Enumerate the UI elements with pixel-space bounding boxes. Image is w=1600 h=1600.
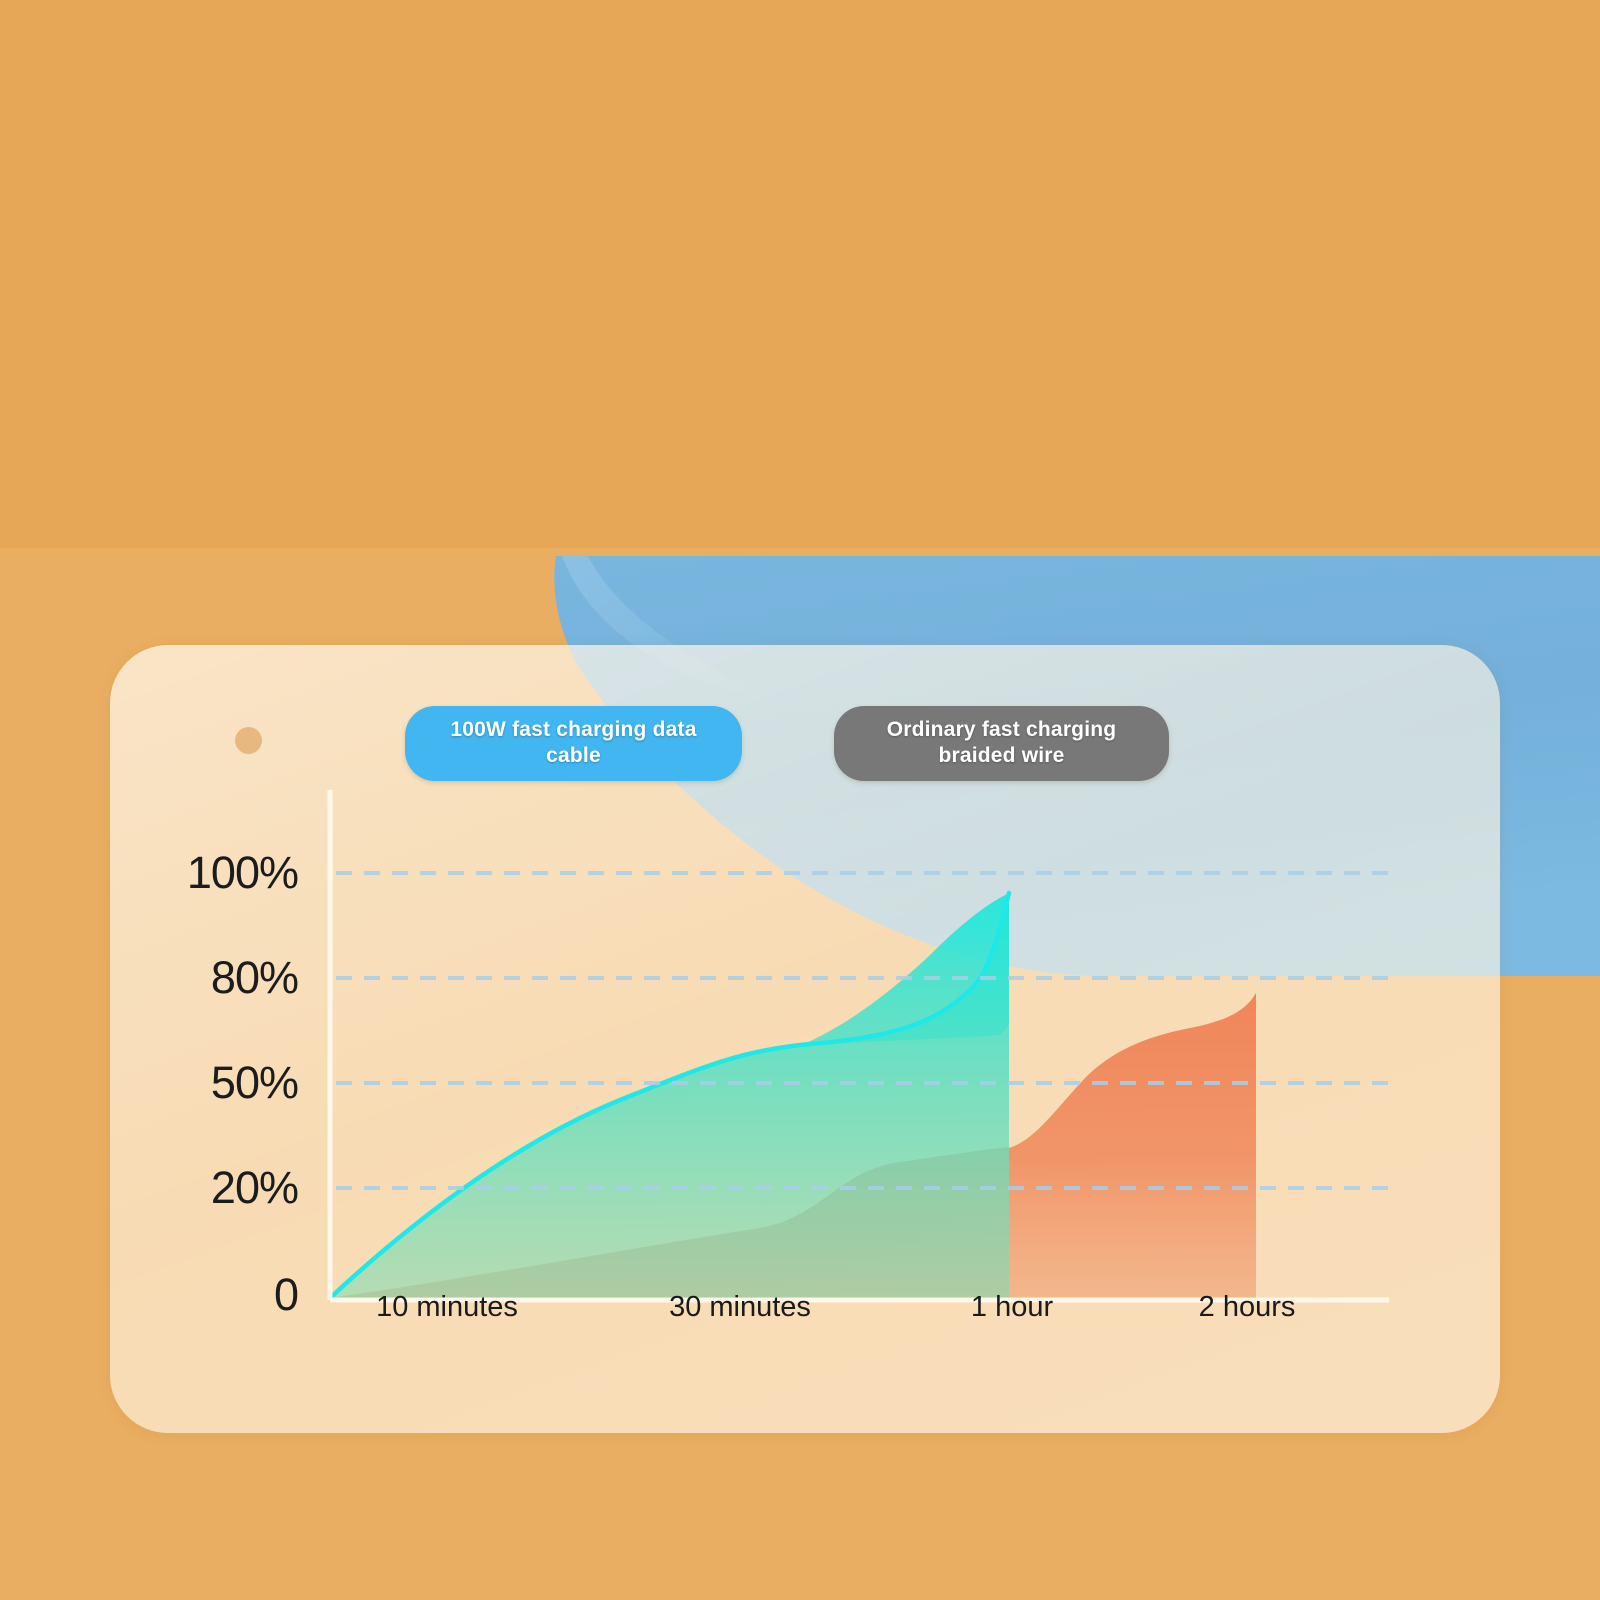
legend-chip-secondary[interactable]: Ordinary fast charging braided wire [834,706,1169,781]
y-tick-100: 100% [187,847,298,899]
x-tick-2-hours: 2 hours [1199,1291,1296,1324]
poster-stage: 100W fast charging data cable Ordinary f… [0,0,1600,1600]
y-tick-50: 50% [211,1057,298,1109]
y-tick-80: 80% [211,952,298,1004]
y-tick-20: 20% [211,1162,298,1214]
chart-legend: 100W fast charging data cable Ordinary f… [405,706,1169,781]
background-top-band [0,0,1600,556]
card-corner-dot [235,727,262,754]
legend-chip-primary[interactable]: 100W fast charging data cable [405,706,742,781]
x-tick-30-minutes: 30 minutes [669,1291,811,1324]
x-tick-1-hour: 1 hour [971,1291,1053,1324]
x-tick-10-minutes: 10 minutes [376,1291,518,1324]
y-tick-0: 0 [274,1269,298,1321]
